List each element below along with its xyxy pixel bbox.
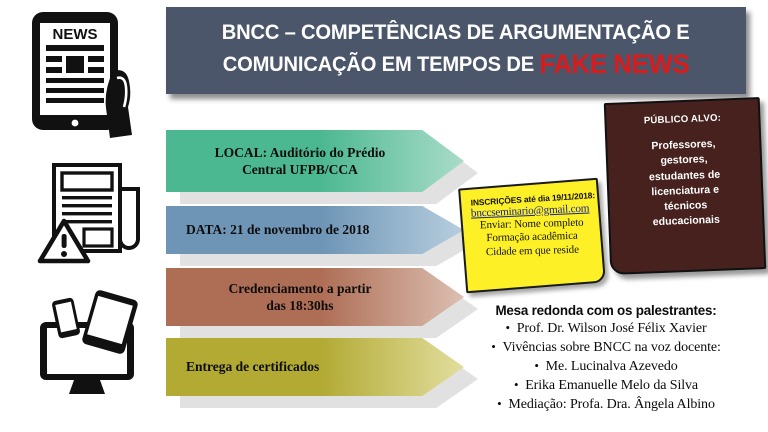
speakers-section: Mesa redonda com os palestrantes: • Prof… xyxy=(448,303,764,414)
arrow-shape: Entrega de certificados xyxy=(166,338,464,396)
bullet-icon: • xyxy=(505,320,509,335)
icon-column: NEWS xyxy=(0,0,160,432)
arrow-banner-credenciamento: Credenciamento a partir das 18:30hs xyxy=(166,268,464,326)
arrow-credenciamento-line-1: Credenciamento a partir xyxy=(186,280,414,297)
speaker-name-2: Vivências sobre BNCC na voz docente: xyxy=(502,340,720,355)
tablet-news-hand-icon: NEWS xyxy=(18,6,150,138)
arrow-shape: Credenciamento a partir das 18:30hs xyxy=(166,268,464,326)
arrow-banner-local: LOCAL: Auditório do Prédio Central UFPB/… xyxy=(166,130,464,192)
arrow-data-line-1: DATA: 21 de novembro de 2018 xyxy=(186,221,414,238)
arrow-local-line-2: Central UFPB/CCA xyxy=(186,161,414,178)
newspaper-warning-icon xyxy=(24,155,152,273)
speaker-name-3: Me. Lucinalva Azevedo xyxy=(546,359,678,374)
title-line-1: BNCC – COMPETÊNCIAS DE ARGUMENTAÇÃO E xyxy=(222,20,690,47)
registration-note: INSCRIÇÕES até dia 19/11/2018: bnccsemin… xyxy=(458,178,606,294)
poster-canvas: NEWS xyxy=(0,0,768,432)
arrow-credenciamento-line-2: das 18:30hs xyxy=(186,297,414,314)
list-item: • Mediação: Profa. Dra. Ângela Albino xyxy=(448,395,764,414)
speaker-name-4: Erika Emanuelle Melo da Silva xyxy=(525,378,698,393)
speaker-name-1: Prof. Dr. Wilson José Félix Xavier xyxy=(517,321,707,336)
registration-note-inner: INSCRIÇÕES até dia 19/11/2018: bnccsemin… xyxy=(470,192,593,259)
arrow-local-line-1: LOCAL: Auditório do Prédio xyxy=(186,144,414,161)
arrow-shape: LOCAL: Auditório do Prédio Central UFPB/… xyxy=(166,130,464,192)
arrow-shape: DATA: 21 de novembro de 2018 xyxy=(166,206,464,254)
registration-line-3: Cidade em que reside xyxy=(472,243,593,260)
arrow-certificados-line-1: Entrega de certificados xyxy=(186,358,414,375)
arrow-banner-certificados: Entrega de certificados xyxy=(166,338,464,396)
arrow-banner-group: LOCAL: Auditório do Prédio Central UFPB/… xyxy=(166,130,486,400)
arrow-text: DATA: 21 de novembro de 2018 xyxy=(166,221,414,238)
list-item: • Erika Emanuelle Melo da Silva xyxy=(448,376,764,395)
bullet-icon: • xyxy=(491,339,495,354)
target-audience-heading: PÚBLICO ALVO: xyxy=(618,112,746,128)
title-banner: BNCC – COMPETÊNCIAS DE ARGUMENTAÇÃO E CO… xyxy=(166,7,746,94)
monitor-tablet-phone-icon xyxy=(14,288,156,416)
speaker-name-5: Mediação: Profa. Dra. Ângela Albino xyxy=(508,397,714,412)
arrow-banner-data: DATA: 21 de novembro de 2018 xyxy=(166,206,464,254)
list-item: • Me. Lucinalva Azevedo xyxy=(448,357,764,376)
bullet-icon: • xyxy=(534,358,538,373)
list-item: • Vivências sobre BNCC na voz docente: xyxy=(448,338,764,357)
list-item: • Prof. Dr. Wilson José Félix Xavier xyxy=(448,319,764,338)
speakers-title: Mesa redonda com os palestrantes: xyxy=(448,303,764,318)
target-audience-note: PÚBLICO ALVO: Professores, gestores, est… xyxy=(604,97,766,275)
arrow-text: Credenciamento a partir das 18:30hs xyxy=(166,280,414,315)
bullet-icon: • xyxy=(514,377,518,392)
title-line-2-prefix: COMUNICAÇÃO EM TEMPOS DE xyxy=(223,53,540,76)
arrow-text: LOCAL: Auditório do Prédio Central UFPB/… xyxy=(166,144,414,179)
title-fake-news-highlight: FAKE NEWS xyxy=(539,49,689,79)
svg-text:NEWS: NEWS xyxy=(53,26,98,43)
title-line-2: COMUNICAÇÃO EM TEMPOS DE FAKE NEWS xyxy=(223,47,689,82)
target-audience-body: Professores, gestores, estudantes de lic… xyxy=(619,136,750,232)
bullet-icon: • xyxy=(497,396,501,411)
arrow-text: Entrega de certificados xyxy=(166,358,414,375)
